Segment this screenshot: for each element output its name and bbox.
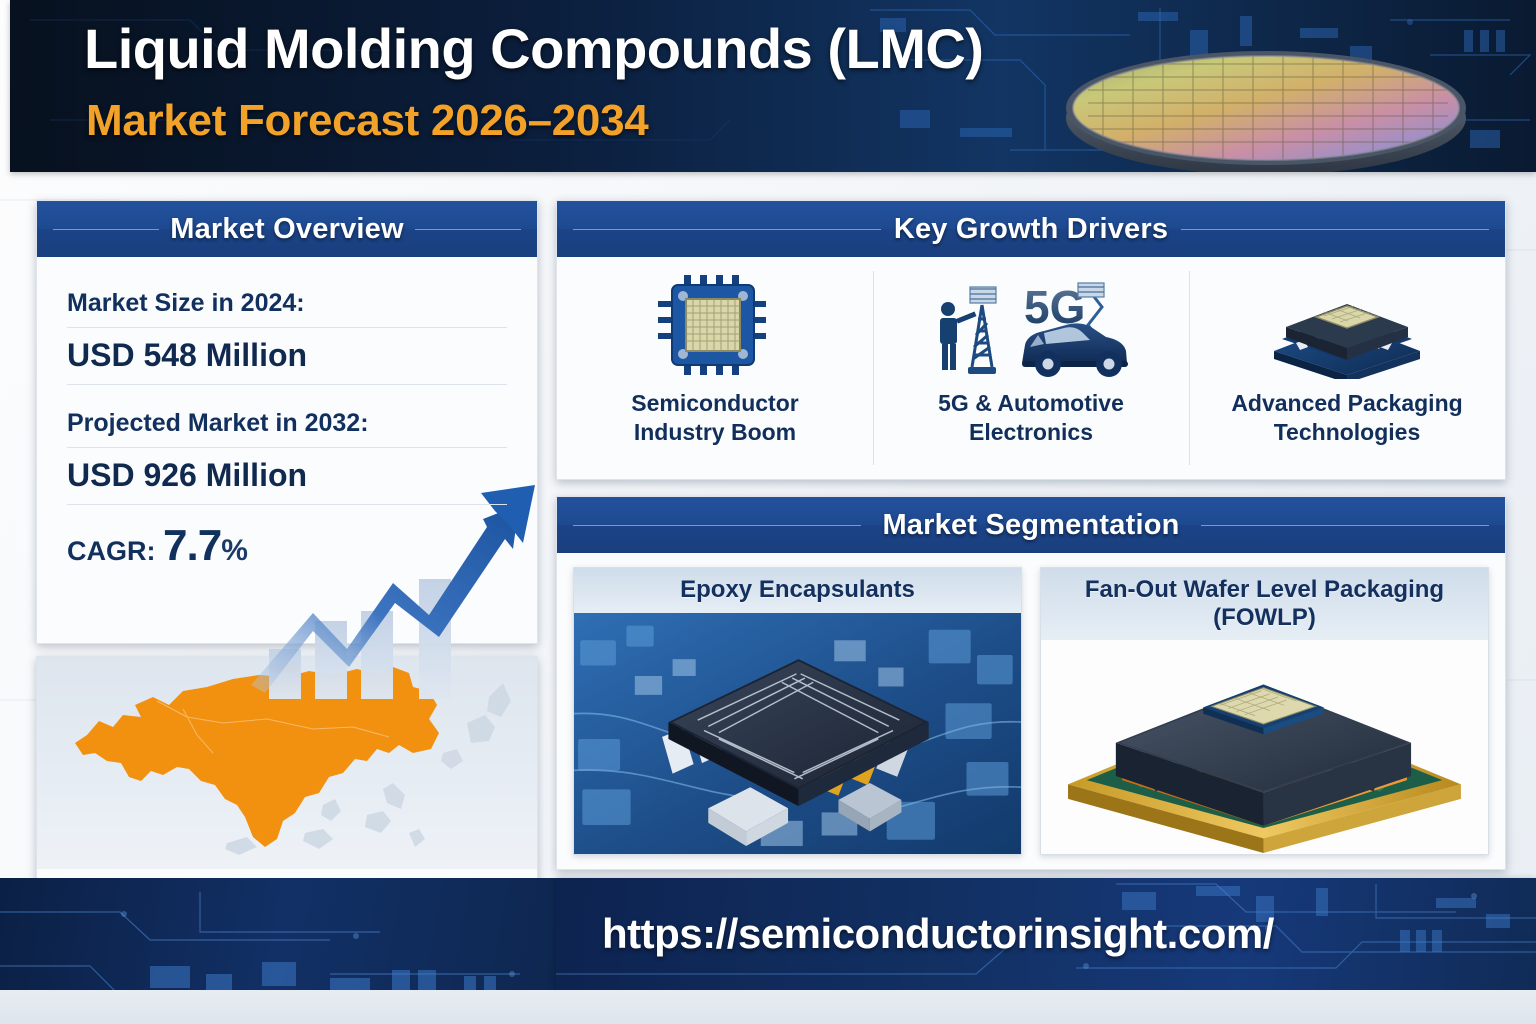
driver-label-semiconductor: Semiconductor Industry Boom — [631, 389, 798, 447]
market-size-label: Market Size in 2024: — [67, 283, 507, 327]
bga-chip-on-pcb-photo — [574, 613, 1021, 854]
segment-title-epoxy: Epoxy Encapsulants — [580, 576, 1015, 604]
page-title: Liquid Molding Compounds (LMC) — [84, 16, 983, 81]
advanced-package-icon — [1252, 271, 1442, 379]
semiconductor-chip-icon — [650, 271, 780, 379]
page-subtitle: Market Forecast 2026–2034 — [86, 96, 648, 146]
overview-row-projected: Projected Market in 2032: USD 926 Millio… — [67, 403, 507, 505]
cagr-row: CAGR: 7.7% — [67, 505, 507, 571]
market-overview-card: Market Overview — [36, 200, 538, 644]
cagr-value: 7.7 — [163, 521, 221, 570]
driver-label-5g: 5G & Automotive Electronics — [938, 389, 1124, 447]
infographic-root: Liquid Molding Compounds (LMC) Market Fo… — [0, 0, 1536, 1024]
header-banner: Liquid Molding Compounds (LMC) Market Fo… — [10, 0, 1536, 172]
market-segmentation-header: Market Segmentation — [557, 497, 1505, 553]
growth-drivers-title: Key Growth Drivers — [880, 213, 1182, 246]
segment-title-fowlp-line1: Fan-Out Wafer Level Packaging — [1047, 576, 1482, 604]
market-segmentation-card: Market Segmentation Epoxy Encapsulants — [556, 496, 1506, 870]
cagr-label: CAGR: — [67, 536, 156, 566]
driver-5g-automotive: 5G — [873, 257, 1189, 479]
growth-drivers-card: Key Growth Drivers — [556, 200, 1506, 480]
driver-semiconductor: Semiconductor Industry Boom — [557, 257, 873, 479]
5g-automotive-icon: 5G — [926, 271, 1136, 379]
segment-epoxy-encapsulants: Epoxy Encapsulants — [573, 567, 1022, 855]
silicon-wafer-icon — [1058, 44, 1478, 172]
market-overview-title: Market Overview — [156, 213, 418, 246]
overview-row-current: Market Size in 2024: USD 548 Million — [67, 283, 507, 385]
projected-market-value: USD 926 Million — [67, 448, 507, 504]
projected-market-label: Projected Market in 2032: — [67, 403, 507, 447]
market-overview-header: Market Overview — [37, 201, 537, 257]
cagr-unit: % — [221, 534, 248, 567]
driver-label-advanced-packaging: Advanced Packaging Technologies — [1231, 389, 1462, 447]
market-segmentation-title: Market Segmentation — [868, 509, 1193, 542]
market-size-value: USD 548 Million — [67, 328, 507, 384]
segment-fowlp: Fan-Out Wafer Level Packaging (FOWLP) — [1040, 567, 1489, 855]
segment-header-epoxy: Epoxy Encapsulants — [574, 568, 1021, 613]
footer-banner: https://semiconductorinsight.com/ — [556, 878, 1536, 990]
driver-advanced-packaging: Advanced Packaging Technologies — [1189, 257, 1505, 479]
divider — [67, 384, 507, 385]
segment-header-fowlp: Fan-Out Wafer Level Packaging (FOWLP) — [1041, 568, 1488, 640]
bottom-strip — [0, 990, 1536, 1024]
growth-drivers-header: Key Growth Drivers — [557, 201, 1505, 257]
segment-title-fowlp-line2: (FOWLP) — [1047, 604, 1482, 632]
website-url[interactable]: https://semiconductorinsight.com/ — [602, 910, 1274, 958]
fowlp-package-photo — [1041, 640, 1488, 854]
